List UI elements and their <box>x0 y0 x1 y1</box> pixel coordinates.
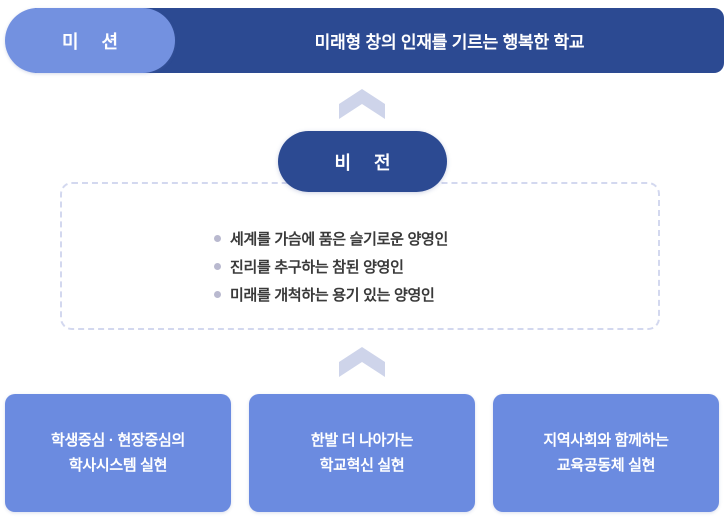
mission-vision-diagram: 미래형 창의 인재를 기르는 행복한 학교 미 션 비 전 세계를 가슴에 품은… <box>0 0 724 525</box>
mission-statement-text: 미래형 창의 인재를 기르는 행복한 학교 <box>315 28 585 53</box>
vision-item-list: 세계를 가슴에 품은 슬기로운 양영인 진리를 추구하는 참된 양영인 미래를 … <box>214 226 544 310</box>
vision-item-text: 미래를 개척하는 용기 있는 양영인 <box>230 284 434 305</box>
goal-box-row: 학생중심 · 현장중심의 학사시스템 실현 한발 더 나아가는 학교혁신 실현 … <box>5 394 719 512</box>
mission-label-pill: 미 션 <box>5 8 175 73</box>
list-item: 미래를 개척하는 용기 있는 양영인 <box>214 282 544 307</box>
mission-label-text: 미 션 <box>53 28 127 54</box>
bullet-dot-icon <box>214 263 221 270</box>
goal-box-academic-system: 학생중심 · 현장중심의 학사시스템 실현 <box>5 394 231 512</box>
goal-line-1: 학생중심 · 현장중심의 <box>51 428 185 453</box>
vision-label-pill: 비 전 <box>278 131 447 192</box>
chevron-up-icon-bottom <box>339 347 385 377</box>
goal-line-1: 지역사회와 함께하는 <box>543 428 668 453</box>
list-item: 진리를 추구하는 참된 양영인 <box>214 254 544 279</box>
vision-item-text: 진리를 추구하는 참된 양영인 <box>230 256 404 277</box>
bullet-dot-icon <box>214 291 221 298</box>
chevron-up-icon-top <box>339 89 385 119</box>
goal-line-2: 학교혁신 실현 <box>320 453 405 478</box>
goal-box-school-innovation: 한발 더 나아가는 학교혁신 실현 <box>249 394 475 512</box>
vision-item-text: 세계를 가슴에 품은 슬기로운 양영인 <box>230 228 448 249</box>
list-item: 세계를 가슴에 품은 슬기로운 양영인 <box>214 226 544 251</box>
bullet-dot-icon <box>214 235 221 242</box>
goal-line-2: 교육공동체 실현 <box>557 453 655 478</box>
goal-line-1: 한발 더 나아가는 <box>311 428 413 453</box>
goal-box-community: 지역사회와 함께하는 교육공동체 실현 <box>493 394 719 512</box>
goal-line-2: 학사시스템 실현 <box>69 453 167 478</box>
vision-label-text: 비 전 <box>325 149 399 175</box>
